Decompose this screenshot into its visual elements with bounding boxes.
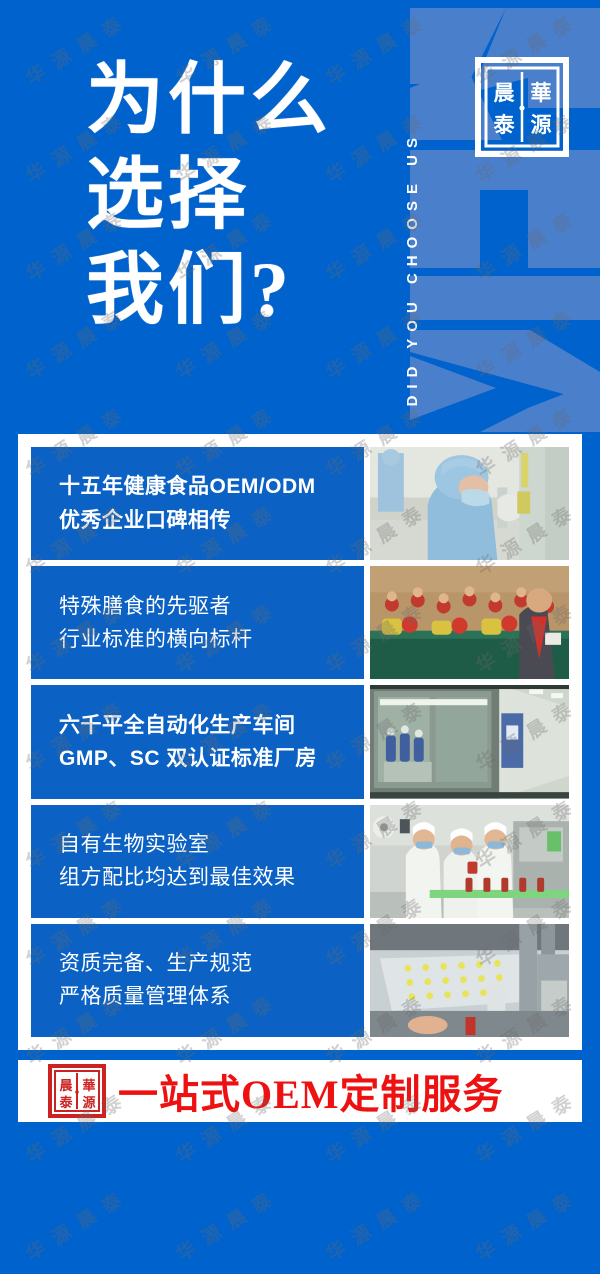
features-frame: 十五年健康食品OEM/ODM 优秀企业口碑相传 [18,434,582,1050]
list-item[interactable]: 资质完备、生产规范 严格质量管理体系 [31,924,569,1037]
svg-text:源: 源 [531,113,552,137]
feature-line-1: 自有生物实验室 [59,828,364,861]
feature-line-1: 资质完备、生产规范 [59,947,364,980]
svg-text:泰: 泰 [58,1095,73,1110]
company-seal-red-icon: 晨 泰 華 源 [48,1064,106,1118]
watermark-text: 华 源 晨 泰 [150,1176,300,1274]
page-title-line-1: 为什么 [86,52,332,147]
feature-text-panel: 自有生物实验室 组方配比均达到最佳效果 [31,805,364,918]
svg-text:源: 源 [82,1095,95,1110]
page-title-line-2: 选择 [86,147,332,242]
lab-technician-pipetting-photo [370,447,569,560]
svg-text:晨: 晨 [59,1078,73,1093]
feature-text-panel: 十五年健康食品OEM/ODM 优秀企业口碑相传 [31,447,364,560]
vertical-english-tagline: DID YOU CHOOSE US [404,18,421,406]
svg-text:華: 華 [82,1078,95,1093]
watermark-text: 华 源 晨 泰 [450,1176,600,1274]
poster-header: 为什么 选择 我们? DID YOU CHOOSE US 晨 泰 華 源 [0,0,600,432]
feature-line-2: 优秀企业口碑相传 [59,504,364,537]
feature-line-2: 严格质量管理体系 [59,980,364,1013]
list-item[interactable]: 十五年健康食品OEM/ODM 优秀企业口碑相传 [31,447,569,560]
svg-text:華: 華 [531,81,552,105]
page-title-line-3: 我们? [86,242,332,337]
watermark-text: 华 源 晨 泰 [300,1176,450,1274]
feature-text-panel: 六千平全自动化生产车间 GMP、SC 双认证标准厂房 [31,685,364,798]
company-seal-logo: 晨 泰 華 源 [474,56,570,158]
vertical-english-text: DID YOU CHOOSE US [404,131,421,406]
feature-line-2: 组方配比均达到最佳效果 [59,861,364,894]
feature-line-1: 十五年健康食品OEM/ODM [59,470,364,503]
watermark-text: 华 源 晨 泰 [0,1176,150,1274]
tablet-blister-packing-machine-photo [370,924,569,1037]
feature-text-panel: 特殊膳食的先驱者 行业标准的横向标杆 [31,566,364,679]
page-title: 为什么 选择 我们? [86,52,332,337]
cta-banner-text: 一站式OEM定制服务 [118,1062,504,1120]
list-item[interactable]: 自有生物实验室 组方配比均达到最佳效果 [31,805,569,918]
feature-line-1: 六千平全自动化生产车间 [59,709,364,742]
svg-text:泰: 泰 [493,113,516,137]
list-item[interactable]: 特殊膳食的先驱者 行业标准的横向标杆 [31,566,569,679]
feature-line-1: 特殊膳食的先驱者 [59,590,364,623]
svg-text:晨: 晨 [494,81,516,105]
feature-text-panel: 资质完备、生产规范 严格质量管理体系 [31,924,364,1037]
feature-line-2: GMP、SC 双认证标准厂房 [59,742,364,775]
list-item[interactable]: 六千平全自动化生产车间 GMP、SC 双认证标准厂房 [31,685,569,798]
features-list: 十五年健康食品OEM/ODM 优秀企业口碑相传 [31,447,569,1037]
conference-audience-hall-photo [370,566,569,679]
workers-inspecting-filling-line-photo [370,805,569,918]
feature-line-2: 行业标准的横向标杆 [59,623,364,656]
bottom-cta-banner[interactable]: 晨 泰 華 源 一站式OEM定制服务 [18,1060,582,1122]
cleanroom-production-corridor-photo [370,685,569,798]
